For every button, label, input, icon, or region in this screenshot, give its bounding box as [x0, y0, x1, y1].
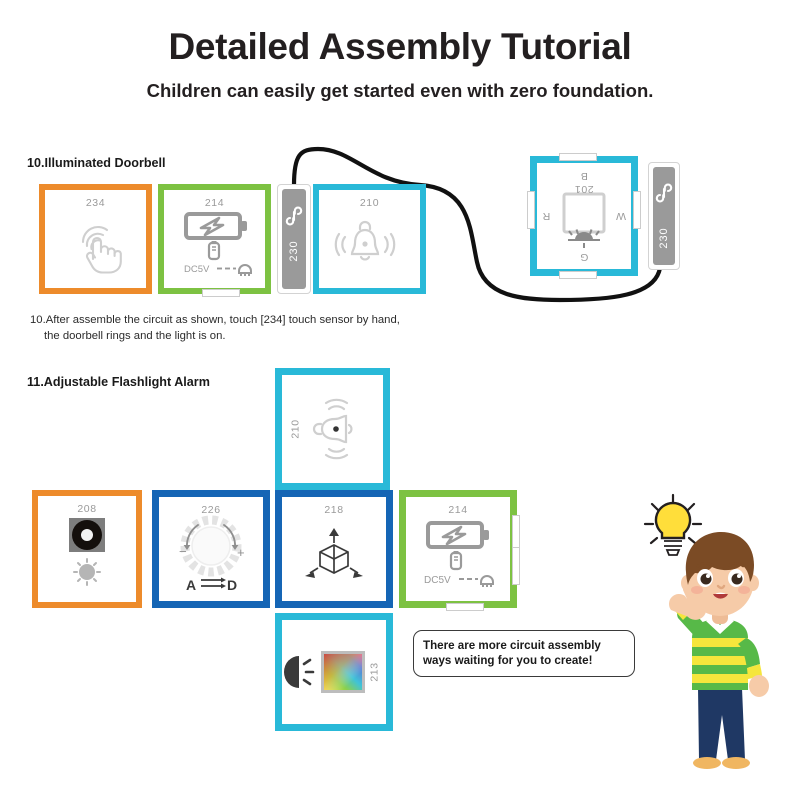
cube-icon	[282, 497, 386, 601]
battery-voltage-label: DC5V	[424, 575, 451, 586]
svg-text:+: +	[237, 545, 245, 560]
light-sensor-icon	[38, 496, 136, 602]
pin-label-g: G	[537, 251, 631, 263]
bell-icon	[319, 190, 420, 288]
section-11-title: 11.Adjustable Flashlight Alarm	[27, 375, 210, 389]
module-230-a[interactable]: 230	[277, 184, 311, 294]
module-code: 230	[658, 227, 670, 248]
module-code: 230	[288, 240, 300, 261]
section-10-title: 10.Illuminated Doorbell	[27, 156, 166, 170]
page-title: Detailed Assembly Tutorial	[0, 26, 800, 68]
module-230-b[interactable]: 230	[648, 162, 680, 270]
module-234[interactable]: 234	[39, 184, 152, 294]
pin-label-b: B	[537, 170, 631, 182]
module-214-b[interactable]: 214 DC5V	[399, 490, 517, 608]
module-226[interactable]: 226 − + A D	[152, 490, 270, 608]
module-code: 201	[537, 183, 631, 195]
battery-icon: DC5V	[164, 190, 265, 288]
module-214-a[interactable]: 214 DC5V	[158, 184, 271, 294]
module-210-b[interactable]: 210	[275, 368, 390, 490]
pin-label-r: R	[542, 210, 550, 222]
caption-line-2: the doorbell rings and the light is on.	[30, 328, 510, 344]
speech-bubble: There are more circuit assembly ways wai…	[413, 630, 635, 677]
link-icon	[656, 182, 672, 204]
connector-tab-left	[633, 191, 641, 229]
character-illustration	[640, 490, 800, 780]
rgb-led-icon	[282, 620, 386, 724]
knob-mark-d: D	[227, 577, 237, 593]
speech-line-1: There are more circuit assembly	[423, 638, 625, 653]
battery-voltage-label: DC5V	[184, 264, 210, 275]
section-10-caption: 10.After assemble the circuit as shown, …	[30, 312, 510, 344]
link-icon	[286, 205, 302, 227]
caption-line-1: 10.After assemble the circuit as shown, …	[30, 314, 400, 326]
buzzer-icon	[282, 375, 383, 483]
svg-text:−: −	[179, 544, 187, 559]
knob-mark-a: A	[186, 577, 196, 593]
module-208[interactable]: 208	[32, 490, 142, 608]
pin-label-w: W	[615, 210, 626, 222]
module-213[interactable]: 213	[275, 613, 393, 731]
connector-tab-bottom	[202, 289, 240, 297]
page-subtitle: Children can easily get started even wit…	[0, 80, 800, 102]
module-218[interactable]: 218	[275, 490, 393, 608]
battery-icon: DC5V	[406, 497, 510, 601]
knob-icon: − + A D	[159, 497, 263, 601]
connector-tab-right-2	[512, 547, 520, 585]
connector-tab-bottom	[446, 603, 484, 611]
connector-tab-bottom	[559, 153, 597, 161]
tutorial-page: Detailed Assembly Tutorial Children can …	[0, 0, 800, 800]
touch-sensor-icon	[45, 190, 146, 288]
connector-tab-right	[527, 191, 535, 229]
connector-tab-top	[559, 271, 597, 279]
module-201[interactable]: 201 B G R W	[530, 156, 638, 276]
speech-line-2: ways waiting for you to create!	[423, 653, 625, 668]
module-210-a[interactable]: 210	[313, 184, 426, 294]
